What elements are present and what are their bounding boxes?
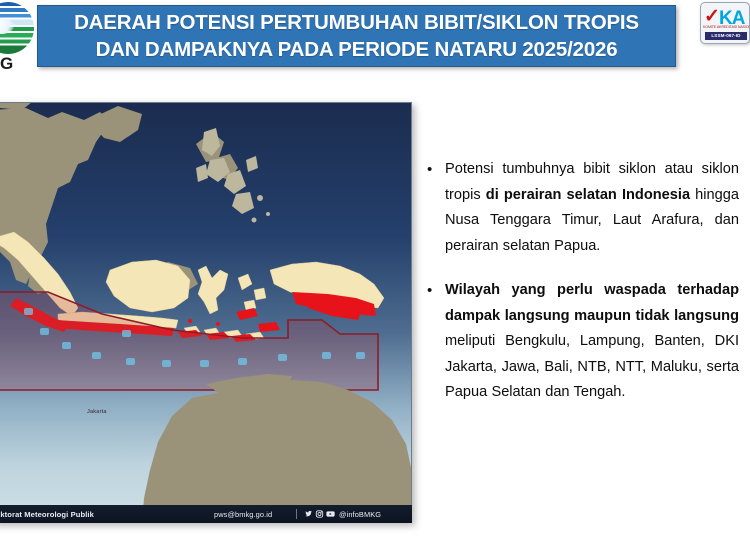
social-icon-group [304,510,335,518]
footer-divider [296,509,297,519]
bmkg-logo-label: G [0,54,13,74]
content-bullet-list: • Potensi tumbuhnya bibit siklon atau si… [427,157,739,425]
map-city-label-jakarta: Jakarta [87,409,107,415]
bullet-marker: • [427,157,445,259]
map-footer-email: pws@bmkg.go.id [214,510,272,519]
page-title-line-1: DAERAH POTENSI PERTUMBUHAN BIBIT/SIKLON … [74,9,639,36]
title-banner: DAERAH POTENSI PERTUMBUHAN BIBIT/SIKLON … [37,5,676,67]
kan-subtitle: KOMITE AKREDITASI NASIONAL [703,25,749,29]
bullet-marker: • [427,278,445,406]
list-item: • Potensi tumbuhnya bibit siklon atau si… [427,157,739,259]
check-icon: ✓ [704,9,720,25]
twitter-icon[interactable] [304,510,313,518]
map-footer-unit: ektorat Meteorologi Publik [0,510,94,519]
list-item: • Wilayah yang perlu waspada terhadap da… [427,278,739,406]
map-panel: Jakarta ektorat Meteorologi Publik pws@b… [0,102,412,523]
map-footer-handle: @infoBMKG [339,510,381,519]
bmkg-logo-icon [0,2,34,54]
bullet-text-wilayah: Wilayah yang perlu waspada terhadap damp… [445,278,739,406]
instagram-icon[interactable] [315,510,324,518]
slide-root: G DAERAH POTENSI PERTUMBUHAN BIBIT/SIKLO… [0,0,750,536]
indonesia-cyclone-map [0,102,412,523]
bullet-text-potensi: Potensi tumbuhnya bibit siklon atau sikl… [445,157,739,259]
kan-certification-badge: ✓ KA KOMITE AKREDITASI NASIONAL LSSM-067… [700,2,750,44]
kan-code-label: LSSM-067-ID [705,32,747,40]
youtube-icon[interactable] [326,510,335,518]
page-title-line-2: DAN DAMPAKNYA PADA PERIODE NATARU 2025/2… [96,36,618,63]
map-footer-bar: ektorat Meteorologi Publik pws@bmkg.go.i… [0,505,412,523]
